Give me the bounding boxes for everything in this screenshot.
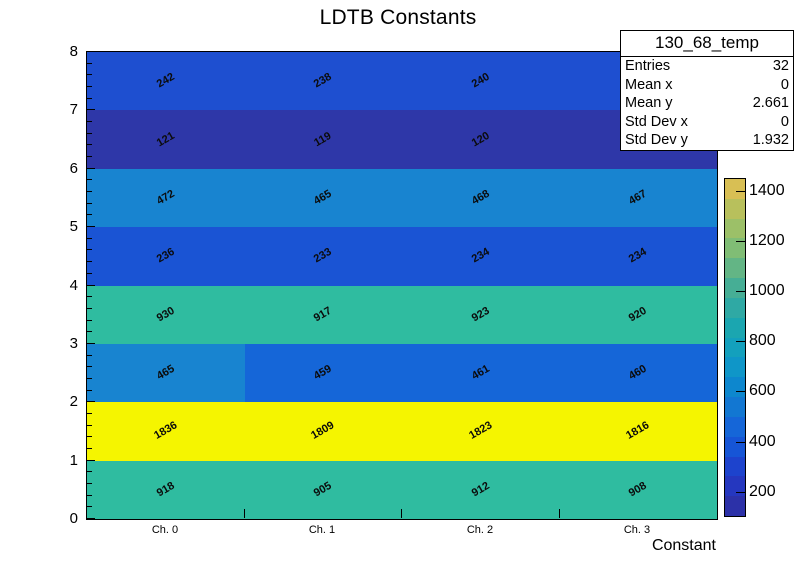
color-scale-band [725,278,745,298]
heatmap-cell: 1816 [560,402,718,460]
stats-value: 2.661 [753,94,789,113]
x-axis-label: Ch. 0 [125,524,205,536]
y-axis-minor-tick [86,121,92,122]
y-axis-minor-tick [86,179,92,180]
y-axis-minor-tick [86,378,92,379]
color-scale-label: 400 [749,434,776,450]
heatmap-cell-value: 905 [313,480,334,499]
y-axis-label: 6 [50,161,78,176]
y-axis-minor-tick [86,506,92,507]
color-scale-tick [736,341,746,342]
heatmap-cell-value: 460 [628,364,649,383]
heatmap-cell: 465 [87,344,245,402]
heatmap-cell-value: 459 [313,364,334,383]
heatmap-cell-value: 465 [155,364,176,383]
y-axis-minor-tick [86,495,92,496]
stats-box-row: Entries32 [621,57,793,76]
color-scale-label: 1400 [749,183,785,199]
x-axis-tick [244,509,245,518]
color-scale-label: 200 [749,484,776,500]
y-axis-minor-tick [86,133,92,134]
y-axis-label: 5 [50,219,78,234]
y-axis-minor-tick [86,191,92,192]
heatmap-cell-value: 467 [628,189,649,208]
stats-key: Mean y [625,94,673,113]
root-canvas: LDTB Constants 2422382401211191204724654… [0,0,796,572]
x-axis-tick [401,509,402,518]
y-axis-minor-tick [86,249,92,250]
stats-box-row: Mean x0 [621,76,793,95]
color-scale-tick [736,241,746,242]
heatmap-cell-value: 1816 [625,421,652,443]
heatmap-cell: 465 [245,169,403,227]
heatmap-cell: 930 [87,286,245,344]
y-axis-tick [86,51,95,52]
color-scale-tick [736,492,746,493]
y-axis-minor-tick [86,203,92,204]
stats-key: Mean x [625,76,673,95]
y-axis-tick [86,285,95,286]
y-axis-minor-tick [86,413,92,414]
stats-value: 32 [773,57,789,76]
heatmap-cell: 119 [245,110,403,168]
heatmap-cell-value: 236 [155,247,176,266]
color-scale-band [725,397,745,417]
heatmap-cell: 461 [402,344,560,402]
heatmap-cell: 1809 [245,402,403,460]
color-scale-tick [736,291,746,292]
y-axis-minor-tick [86,471,92,472]
color-scale-band [725,318,745,338]
heatmap-cell-value: 1836 [152,421,179,443]
y-axis-label: 7 [50,102,78,117]
y-axis-minor-tick [86,214,92,215]
heatmap-cell-value: 1809 [310,421,337,443]
stats-value: 1.932 [753,131,789,150]
heatmap-cell: 236 [87,227,245,285]
y-axis-minor-tick [86,436,92,437]
y-axis-minor-tick [86,156,92,157]
heatmap-cell: 918 [87,461,245,519]
heatmap-cell-value: 120 [470,130,491,149]
stats-key: Entries [625,57,670,76]
stats-key: Std Dev x [625,113,688,132]
color-scale-band [725,377,745,397]
heatmap-cell: 459 [245,344,403,402]
color-scale-band [725,357,745,377]
heatmap-cell: 923 [402,286,560,344]
y-axis-tick [86,226,95,227]
heatmap-cell-value: 234 [470,247,491,266]
heatmap-cell: 1836 [87,402,245,460]
stats-box-row: Mean y2.661 [621,94,793,113]
color-scale-band [725,437,745,457]
color-scale-band [725,199,745,219]
color-scale-band [725,476,745,496]
heatmap-cell: 238 [245,52,403,110]
y-axis-label: 0 [50,511,78,526]
heatmap-cell: 472 [87,169,245,227]
y-axis-minor-tick [86,86,92,87]
color-scale-band [725,417,745,437]
y-axis-minor-tick [86,448,92,449]
x-axis-label: Ch. 2 [440,524,520,536]
stats-key: Std Dev y [625,131,688,150]
y-axis-minor-tick [86,366,92,367]
y-axis-tick [86,518,95,519]
heatmap-cell: 460 [560,344,718,402]
y-axis-minor-tick [86,238,92,239]
heatmap-cell-value: 908 [628,480,649,499]
color-scale-bar [724,178,746,517]
stats-box-title: 130_68_temp [621,31,793,57]
heatmap-cell: 908 [560,461,718,519]
y-axis-tick [86,401,95,402]
y-axis-minor-tick [86,63,92,64]
color-scale-gradient [725,179,745,516]
heatmap-cell-value: 918 [155,480,176,499]
x-axis-title: Constant [596,537,716,555]
y-axis-tick [86,460,95,461]
y-axis-minor-tick [86,98,92,99]
heatmap-cell-value: 465 [313,189,334,208]
y-axis-minor-tick [86,74,92,75]
y-axis-minor-tick [86,273,92,274]
y-axis-tick [86,343,95,344]
stats-value: 0 [781,113,789,132]
color-scale-tick [736,191,746,192]
heatmap-cell-value: 912 [470,480,491,499]
heatmap-cell: 240 [402,52,560,110]
heatmap-cell: 467 [560,169,718,227]
heatmap-cell-value: 920 [628,305,649,324]
color-scale-band [725,258,745,278]
color-scale-band [725,179,745,199]
heatmap-cell: 468 [402,169,560,227]
heatmap-cell: 905 [245,461,403,519]
heatmap-cell-value: 930 [155,305,176,324]
heatmap-cell-value: 234 [628,247,649,266]
heatmap-cell: 912 [402,461,560,519]
color-scale-label: 1200 [749,233,785,249]
heatmap-cell: 1823 [402,402,560,460]
heatmap-cell: 121 [87,110,245,168]
heatmap-cell-value: 119 [313,130,334,148]
heatmap-cell-value: 121 [155,130,176,149]
color-scale-tick [736,391,746,392]
y-axis-label: 2 [50,394,78,409]
y-axis-minor-tick [86,483,92,484]
heatmap-cell-value: 917 [313,305,334,324]
y-axis-minor-tick [86,261,92,262]
heatmap-cell: 234 [402,227,560,285]
y-axis-minor-tick [86,320,92,321]
x-axis-label: Ch. 3 [597,524,677,536]
heatmap-cell: 917 [245,286,403,344]
heatmap-cell-value: 1823 [467,421,494,443]
y-axis-label: 3 [50,336,78,351]
stats-box: 130_68_temp Entries32Mean x0Mean y2.661S… [620,30,794,151]
color-scale-label: 800 [749,333,776,349]
y-axis-minor-tick [86,355,92,356]
heatmap-cell-value: 461 [470,364,491,383]
heatmap-cell: 920 [560,286,718,344]
color-scale-tick [736,442,746,443]
heatmap-cell-value: 238 [313,72,334,91]
y-axis-minor-tick [86,425,92,426]
y-axis-label: 8 [50,44,78,59]
heatmap-cell-value: 233 [313,247,334,266]
y-axis-tick [86,109,95,110]
heatmap-cell: 120 [402,110,560,168]
heatmap-cell: 242 [87,52,245,110]
x-axis-label: Ch. 1 [282,524,362,536]
y-axis-minor-tick [86,390,92,391]
chart-title: LDTB Constants [0,6,796,30]
stats-box-row: Std Dev x0 [621,113,793,132]
heatmap-cell-value: 242 [155,72,176,91]
heatmap-cell-value: 468 [470,189,491,208]
color-scale-band [725,298,745,318]
color-scale-label: 600 [749,383,776,399]
heatmap-cell: 234 [560,227,718,285]
stats-box-rows: Entries32Mean x0Mean y2.661Std Dev x0Std… [621,57,793,150]
color-scale-band [725,219,745,239]
stats-box-row: Std Dev y1.932 [621,131,793,150]
y-axis-minor-tick [86,144,92,145]
y-axis-label: 1 [50,453,78,468]
y-axis-minor-tick [86,331,92,332]
y-axis-label: 4 [50,278,78,293]
y-axis-minor-tick [86,308,92,309]
color-scale-band [725,457,745,477]
color-scale-band [725,496,745,516]
x-axis-tick [559,509,560,518]
heatmap-cell-value: 472 [155,189,176,208]
color-scale-label: 1000 [749,283,785,299]
stats-value: 0 [781,76,789,95]
heatmap-cell-value: 240 [470,72,491,91]
heatmap-cell: 233 [245,227,403,285]
y-axis-tick [86,168,95,169]
y-axis-minor-tick [86,296,92,297]
heatmap-cell-value: 923 [470,305,491,324]
